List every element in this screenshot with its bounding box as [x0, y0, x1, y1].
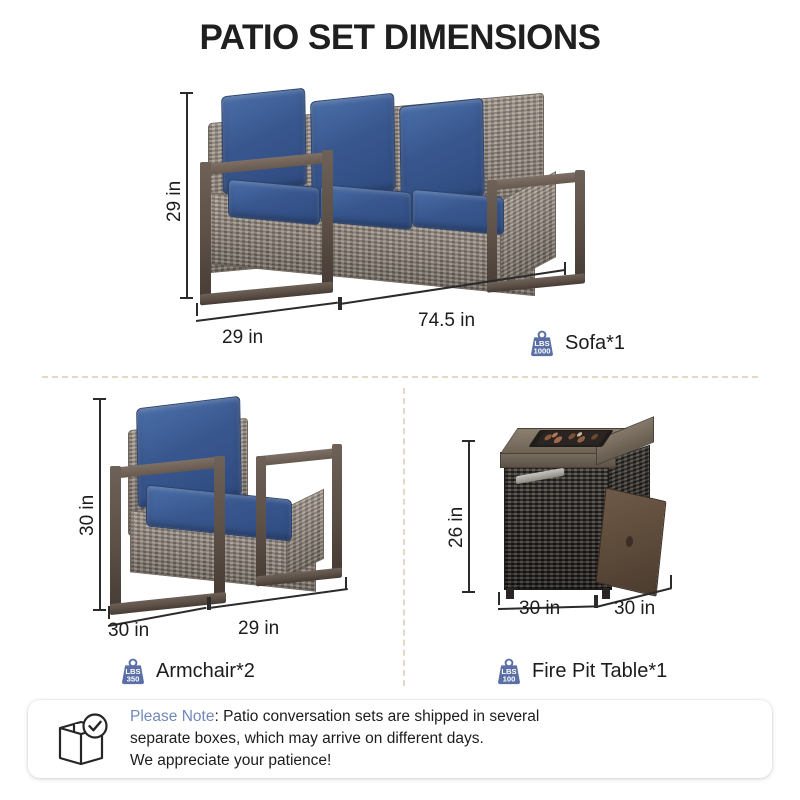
weight-value-text: 1000 [533, 346, 550, 355]
note-emphasis: Please Note [130, 708, 214, 725]
firepit-height-label: 26 in [446, 507, 468, 548]
sofa-width-label: 74.5 in [418, 310, 475, 332]
weight-icon: LBS 100 [494, 656, 524, 686]
infographic-page: PATIO SET DIMENSIONS [0, 0, 800, 800]
armchair-product-label: LBS 350 Armchair*2 [118, 656, 255, 686]
note-separator: : [214, 708, 223, 725]
weight-icon: LBS 1000 [527, 328, 557, 358]
note-line-2: separate boxes, which may arrive on diff… [130, 730, 484, 747]
shipping-note-text: Please Note: Patio conversation sets are… [130, 706, 539, 772]
sofa-height-label: 29 in [164, 181, 186, 222]
note-line-1: Patio conversation sets are shipped in s… [223, 708, 539, 725]
vertical-divider [403, 388, 405, 686]
firepit-width-label: 30 in [614, 598, 655, 620]
armchair-width-label: 29 in [238, 618, 279, 640]
firepit-depth-label: 30 in [519, 598, 560, 620]
firepit-name: Fire Pit Table*1 [532, 660, 667, 683]
weight-icon: LBS 350 [118, 656, 148, 686]
firepit-product-label: LBS 100 Fire Pit Table*1 [494, 656, 667, 686]
box-check-icon [50, 710, 112, 768]
weight-value-text: 350 [127, 674, 140, 683]
page-title: PATIO SET DIMENSIONS [0, 18, 800, 58]
sofa-product-label: LBS 1000 Sofa*1 [527, 328, 625, 358]
armchair-depth-label: 30 in [108, 620, 149, 642]
armchair-height-label: 30 in [77, 495, 99, 536]
horizontal-divider [42, 376, 758, 378]
note-line-3: We appreciate your patience! [130, 752, 331, 769]
armchair-name: Armchair*2 [156, 660, 255, 683]
sofa-depth-label: 29 in [222, 327, 263, 349]
sofa-name: Sofa*1 [565, 332, 625, 355]
shipping-note-card: Please Note: Patio conversation sets are… [28, 700, 772, 778]
weight-value-text: 100 [503, 674, 516, 683]
